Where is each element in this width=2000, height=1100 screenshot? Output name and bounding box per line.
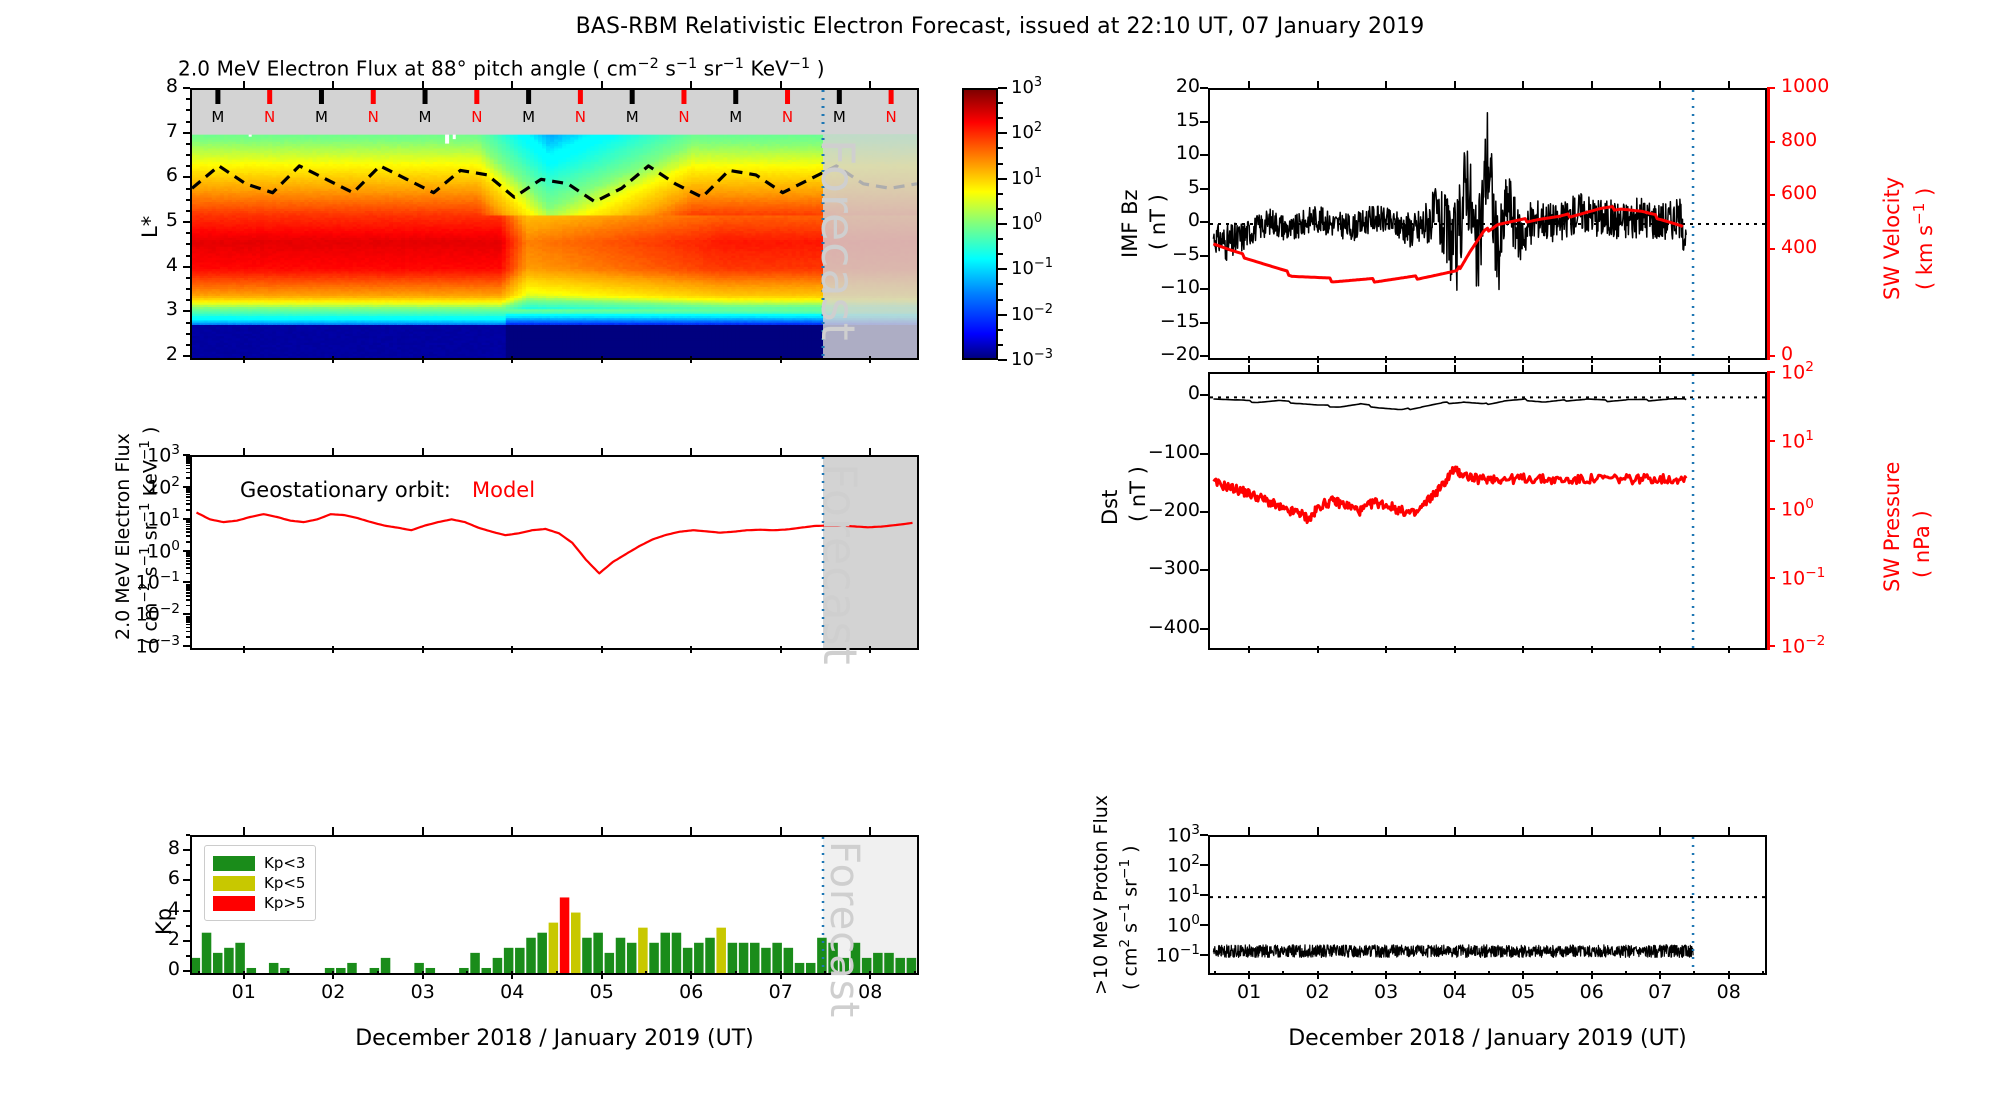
imf-ytick-left-mark <box>1200 221 1208 223</box>
geo-flux-xtick-top <box>243 448 245 455</box>
imf-ytick-left-mark <box>1200 87 1208 89</box>
geo-flux-xtick-top <box>511 448 513 455</box>
forecast-figure: BAS-RBM Relativistic Electron Forecast, … <box>0 0 2000 1100</box>
kp-legend-row: Kp<5 <box>213 874 305 892</box>
geo-flux-ytick-minor <box>186 573 190 575</box>
kp-xtick-mark-top <box>869 827 871 835</box>
dst-ytick: −100 <box>1108 441 1200 463</box>
flux-map-ytick-minor <box>186 109 190 111</box>
kp-xtick-label: 05 <box>572 981 632 1003</box>
kp-xtick-minor <box>466 971 468 975</box>
proton-xtick-minor <box>1419 971 1421 975</box>
geo-flux-ytick-minor <box>186 500 190 502</box>
flux-map-xtick-top <box>422 81 424 88</box>
kp-xtick-minor <box>377 971 379 975</box>
kp-ytick-mark <box>183 879 190 881</box>
imf-ytick-left: −15 <box>1118 310 1200 332</box>
flux-map-top-marker: N <box>678 108 689 126</box>
forecast-watermark-1: Forecast <box>811 139 865 342</box>
geo-flux-ytick-minor <box>186 492 190 494</box>
dst-ytick-mark <box>1200 394 1208 396</box>
geo-flux-ytick: 100 <box>92 538 180 562</box>
geo-flux-ytick-minor <box>186 560 190 562</box>
flux-map-ytick-mark <box>183 355 190 357</box>
flux-map-ytick: 3 <box>120 298 178 320</box>
flux-map-ytick-minor <box>186 344 190 346</box>
colorbar-tick-minor <box>998 208 1003 210</box>
geo-flux-ytick: 10−2 <box>92 601 180 625</box>
geo-flux-xtick <box>780 646 782 653</box>
geo-flux-ytick: 101 <box>92 506 180 530</box>
geo-flux-ytick-minor <box>186 617 190 619</box>
flux-map-ytick: 5 <box>120 209 178 231</box>
geo-flux-ytick-minor <box>186 456 190 458</box>
kp-ytick-mark <box>183 970 190 972</box>
kp-legend-row: Kp>5 <box>213 894 305 912</box>
geo-flux-ytick-minor <box>186 526 190 528</box>
colorbar-tick-minor <box>998 223 1003 225</box>
imf-xtick <box>1522 356 1524 363</box>
proton-xtick-minor <box>1385 971 1387 975</box>
proton-xtick-label: 04 <box>1425 981 1485 1003</box>
geo-flux-ytick-minor <box>186 636 190 638</box>
imf-ytick-left: 5 <box>1118 176 1200 198</box>
colorbar-tick-minor <box>998 253 1003 255</box>
kp-xtick-minor <box>332 971 334 975</box>
geo-flux-xtick-top <box>601 448 603 455</box>
proton-xtick-minor <box>1659 971 1661 975</box>
geo-flux-ytick-minor <box>186 619 190 621</box>
flux-map-ytick: 6 <box>120 164 178 186</box>
kp-xtick-minor <box>914 971 916 975</box>
geo-flux-ytick-minor <box>186 592 190 594</box>
sw-velocity-ylabel-line2: ( km s−1 ) <box>1910 188 1937 290</box>
geo-flux-xtick-top <box>422 448 424 455</box>
sw-pressure-ytick: 102 <box>1781 359 1814 383</box>
flux-map-ytick-minor <box>186 199 190 201</box>
geo-flux-ytick-minor <box>186 472 190 474</box>
imf-ytick-left-mark <box>1200 322 1208 324</box>
imf-xtick-top <box>1454 81 1456 88</box>
proton-xtick-minor <box>1762 971 1764 975</box>
imf-ytick-left: −10 <box>1118 276 1200 298</box>
kp-xtick-minor <box>690 971 692 975</box>
kp-xtick-minor <box>243 971 245 975</box>
geo-flux-ytick-minor <box>186 494 190 496</box>
imf-xtick <box>1591 356 1593 363</box>
geo-flux-xtick-top <box>869 448 871 455</box>
geo-flux-xtick-top <box>690 448 692 455</box>
colorbar-tick-label: 100 <box>1011 211 1042 234</box>
dst-xtick-top <box>1522 365 1524 372</box>
geo-flux-ytick-minor <box>186 605 190 607</box>
kp-legend-label: Kp<5 <box>264 874 305 892</box>
geo-flux-xtick <box>332 646 334 653</box>
sw-velocity-axis-spine <box>1767 88 1770 360</box>
dst-xtick <box>1522 646 1524 653</box>
geo-flux-ytick-minor <box>186 503 190 505</box>
geo-flux-ytick-minor <box>186 460 190 462</box>
geo-flux-ytick-minor <box>186 488 190 490</box>
flux-map-ytick-minor <box>186 121 190 123</box>
kp-xtick-minor <box>824 971 826 975</box>
kp-ytick: 6 <box>130 867 180 889</box>
geo-flux-xtick-top <box>332 448 334 455</box>
flux-map-top-marker: M <box>315 108 328 126</box>
geo-flux-ytick-minor <box>186 631 190 633</box>
flux-map-ytick-minor <box>186 255 190 257</box>
imf-xtick-top <box>1317 81 1319 88</box>
proton-xtick-label: 01 <box>1219 981 1279 1003</box>
flux-map-xtick <box>243 356 245 363</box>
proton-xtick-mark-top <box>1454 827 1456 835</box>
forecast-watermark-2: Forecast <box>813 463 867 666</box>
flux-map-ytick-minor <box>186 154 190 156</box>
flux-map-ytick: 7 <box>120 120 178 142</box>
sw-velocity-ytick: 400 <box>1781 236 1817 258</box>
proton-xtick-label: 02 <box>1288 981 1348 1003</box>
flux-map-xtick <box>332 356 334 363</box>
geo-flux-ytick-mark <box>183 645 190 647</box>
proton-xtick-mark-top <box>1248 827 1250 835</box>
dst-xtick-top <box>1659 365 1661 372</box>
sw-pressure-ylabel-line1: SW Pressure <box>1880 462 1904 592</box>
sw-pressure-ylabel-line2: ( nPa ) <box>1910 510 1934 578</box>
geo-flux-ytick-minor <box>186 462 190 464</box>
geo-flux-xtick <box>243 646 245 653</box>
proton-xtick-minor <box>1728 971 1730 975</box>
geo-flux-ytick: 10−3 <box>92 633 180 657</box>
flux-map-xtick <box>780 356 782 363</box>
colorbar-tick-label: 10−3 <box>1011 347 1053 370</box>
proton-xtick-mark-top <box>1591 827 1593 835</box>
dst-ytick: −400 <box>1108 616 1200 638</box>
kp-xtick-minor <box>287 971 289 975</box>
flux-map-xtick <box>869 356 871 363</box>
dst-ytick-mark <box>1200 569 1208 571</box>
dst-xtick <box>1591 646 1593 653</box>
geo-flux-ytick-minor <box>186 531 190 533</box>
kp-xtick-label: 08 <box>840 981 900 1003</box>
geo-flux-ytick-minor <box>186 496 190 498</box>
proton-ytick: 100 <box>1110 912 1200 936</box>
proton-xtick-minor <box>1282 971 1284 975</box>
proton-xtick-mark-top <box>1385 827 1387 835</box>
colorbar-tick-minor <box>998 163 1003 165</box>
proton-xtick-minor <box>1591 971 1593 975</box>
flux-map-ytick-mark <box>183 132 190 134</box>
flux-colorbar <box>962 88 998 360</box>
proton-xtick-mark-top <box>1317 827 1319 835</box>
dst-xtick-top <box>1728 365 1730 372</box>
geo-flux-ytick-minor <box>186 477 190 479</box>
colorbar-tick-minor <box>998 147 1003 149</box>
imf-ytick-left: −5 <box>1118 243 1200 265</box>
sw-velocity-ytick: 600 <box>1781 182 1817 204</box>
sw-velocity-ylabel-line1: SW Velocity <box>1880 177 1904 300</box>
imf-ytick-left-mark <box>1200 121 1208 123</box>
colorbar-tick-minor <box>998 102 1003 104</box>
dst-ytick-mark <box>1200 453 1208 455</box>
flux-map-top-marker: M <box>522 108 535 126</box>
proton-xtick-label: 06 <box>1562 981 1622 1003</box>
kp-xtick-minor <box>869 971 871 975</box>
colorbar-tick-minor <box>998 283 1003 285</box>
geo-flux-annotation-series: Model <box>472 478 535 502</box>
colorbar-tick-label: 10−1 <box>1011 256 1053 279</box>
imf-xtick <box>1659 356 1661 363</box>
kp-ytick-minor <box>186 925 190 927</box>
flux-map-ytick-minor <box>186 243 190 245</box>
imf-ytick-left: −20 <box>1118 343 1200 365</box>
imf-xtick <box>1248 356 1250 363</box>
sw-pressure-ytick: 10−1 <box>1781 565 1825 589</box>
proton-ytick: 10−1 <box>1110 942 1200 966</box>
geo-flux-ytick-minor <box>186 627 190 629</box>
proton-xtick-mark-top <box>1659 827 1661 835</box>
kp-xtick-minor <box>601 971 603 975</box>
geo-flux-ytick-minor <box>186 465 190 467</box>
proton-xtick-minor <box>1454 971 1456 975</box>
colorbar-tick-minor <box>998 344 1003 346</box>
flux-map-top-marker: N <box>782 108 793 126</box>
flux-map-ytick-minor <box>186 210 190 212</box>
geo-flux-ytick-minor <box>186 563 190 565</box>
colorbar-tick-minor <box>998 359 1003 361</box>
flux-map-xtick-top <box>780 81 782 88</box>
kp-xtick-minor <box>645 971 647 975</box>
dst-ytick-mark <box>1200 511 1208 513</box>
kp-xtick-mark-top <box>601 827 603 835</box>
flux-map-top-marker: M <box>729 108 742 126</box>
proton-ytick: 102 <box>1110 852 1200 876</box>
imf-ytick-left: 0 <box>1118 209 1200 231</box>
kp-xtick-mark-top <box>243 827 245 835</box>
geo-flux-annotation-prefix: Geostationary orbit: <box>240 478 451 502</box>
flux-map-ytick-minor <box>186 288 190 290</box>
imf-xtick-top <box>1728 81 1730 88</box>
flux-map-ytick-minor <box>186 277 190 279</box>
flux-map-ytick-minor <box>186 188 190 190</box>
geo-flux-ytick-minor <box>186 624 190 626</box>
colorbar-tick-minor <box>998 314 1003 316</box>
right-xlabel: December 2018 / January 2019 (UT) <box>1208 1026 1767 1051</box>
geo-flux-xtick <box>511 646 513 653</box>
geo-flux-xtick <box>601 646 603 653</box>
kp-ytick-mark <box>183 940 190 942</box>
dst-ytick: −300 <box>1108 557 1200 579</box>
proton-xtick-minor <box>1214 971 1216 975</box>
imf-xtick <box>1317 356 1319 363</box>
flux-map-xtick <box>690 356 692 363</box>
flux-map-ytick-minor <box>186 299 190 301</box>
dst-xtick-top <box>1591 365 1593 372</box>
proton-ytick-mark <box>1200 924 1208 926</box>
geo-flux-ytick: 102 <box>92 474 180 498</box>
geo-flux-ytick-minor <box>186 587 190 589</box>
geo-flux-xtick <box>422 646 424 653</box>
proton-xtick-minor <box>1248 971 1250 975</box>
flux-map-ytick: 4 <box>120 254 178 276</box>
dst-xtick <box>1248 646 1250 653</box>
panel-proton-flux <box>1208 835 1767 975</box>
kp-xtick-minor <box>511 971 513 975</box>
kp-xtick-mark-top <box>422 827 424 835</box>
kp-xtick-minor <box>735 971 737 975</box>
flux-map-ytick-mark <box>183 176 190 178</box>
geo-flux-ytick-minor <box>186 554 190 556</box>
geo-flux-ytick-minor <box>186 585 190 587</box>
kp-ytick: 2 <box>130 928 180 950</box>
flux-map-top-marker: N <box>264 108 275 126</box>
flux-map-top-marker: M <box>833 108 846 126</box>
colorbar-tick-minor <box>998 238 1003 240</box>
geo-flux-ytick-minor <box>186 535 190 537</box>
imf-xtick-top <box>1248 81 1250 88</box>
dst-xtick <box>1454 646 1456 653</box>
geo-flux-ytick-minor <box>186 584 190 586</box>
flux-map-top-marker: M <box>626 108 639 126</box>
flux-map-title: 2.0 MeV Electron Flux at 88° pitch angle… <box>178 56 825 81</box>
flux-map-top-marker: M <box>211 108 224 126</box>
flux-map-ytick-minor <box>186 322 190 324</box>
flux-map-xtick <box>601 356 603 363</box>
imf-xtick <box>1385 356 1387 363</box>
imf-xtick-top <box>1385 81 1387 88</box>
geo-flux-ytick-minor <box>186 468 190 470</box>
geo-flux-ytick-minor <box>186 490 190 492</box>
proton-ytick-mark <box>1200 864 1208 866</box>
imf-ytick-left-mark <box>1200 355 1208 357</box>
flux-map-top-marker: N <box>471 108 482 126</box>
flux-map-xtick <box>422 356 424 363</box>
sw-velocity-ytick: 800 <box>1781 129 1817 151</box>
geo-flux-xtick-top <box>780 448 782 455</box>
dst-xtick <box>1659 646 1661 653</box>
panel-imf-bz <box>1208 88 1767 360</box>
geo-flux-ytick-minor <box>186 528 190 530</box>
geo-flux-ytick-minor <box>186 558 190 560</box>
geo-flux-ytick-minor <box>186 520 190 522</box>
colorbar-tick-minor <box>998 87 1003 89</box>
flux-map-xtick-top <box>869 81 871 88</box>
colorbar-tick-label: 10−2 <box>1011 302 1053 325</box>
flux-map-ytick-minor <box>186 232 190 234</box>
proton-xtick-minor <box>1556 971 1558 975</box>
proton-ytick: 103 <box>1110 822 1200 846</box>
flux-map-xtick <box>511 356 513 363</box>
geo-flux-xtick <box>869 646 871 653</box>
flux-map-xtick-top <box>690 81 692 88</box>
kp-xtick-mark-top <box>690 827 692 835</box>
proton-xtick-minor <box>1625 971 1627 975</box>
kp-xtick-mark-top <box>780 827 782 835</box>
imf-xtick-top <box>1659 81 1661 88</box>
geo-flux-ytick-minor <box>186 599 190 601</box>
proton-xtick-minor <box>1488 971 1490 975</box>
kp-ytick-mark <box>183 849 190 851</box>
flux-map-ytick-minor <box>186 98 190 100</box>
colorbar-tick-minor <box>998 132 1003 134</box>
geo-flux-ytick-minor <box>186 541 190 543</box>
imf-xtick <box>1728 356 1730 363</box>
kp-ytick: 4 <box>130 898 180 920</box>
dst-ytick: 0 <box>1108 382 1200 404</box>
flux-map-ytick-minor <box>186 165 190 167</box>
dst-ytick: −200 <box>1108 499 1200 521</box>
imf-xtick-top <box>1591 81 1593 88</box>
flux-map-top-marker: N <box>575 108 586 126</box>
flux-map-ytick-mark <box>183 310 190 312</box>
flux-map-ytick-mark <box>183 221 190 223</box>
sw-velocity-ytick: 1000 <box>1781 75 1829 97</box>
kp-legend-swatch <box>213 856 255 871</box>
sw-pressure-ytick: 10−2 <box>1781 633 1825 657</box>
imf-xtick <box>1454 356 1456 363</box>
kp-legend-row: Kp<3 <box>213 854 305 872</box>
dst-xtick <box>1728 646 1730 653</box>
geo-flux-ytick: 103 <box>92 442 180 466</box>
kp-xtick-label: 03 <box>393 981 453 1003</box>
flux-map-xtick-top <box>511 81 513 88</box>
geo-flux-ytick-minor <box>186 458 190 460</box>
geo-flux-ytick-minor <box>186 555 190 557</box>
kp-ytick-mark <box>183 910 190 912</box>
dst-xtick-top <box>1248 365 1250 372</box>
flux-map-xtick-top <box>601 81 603 88</box>
sw-pressure-ytick: 100 <box>1781 496 1814 520</box>
left-xlabel: December 2018 / January 2019 (UT) <box>190 1026 919 1051</box>
colorbar-tick-label: 102 <box>1011 120 1042 143</box>
geo-flux-ytick-minor <box>186 595 190 597</box>
colorbar-tick-minor <box>998 178 1003 180</box>
flux-map-ytick-mark <box>183 87 190 89</box>
dst-xtick-top <box>1454 365 1456 372</box>
proton-xtick-label: 03 <box>1356 981 1416 1003</box>
flux-map-ytick: 2 <box>120 343 178 365</box>
imf-ytick-left: 15 <box>1118 109 1200 131</box>
panel-flux-heatmap: MNMNMNMNMNMNMN <box>190 88 919 360</box>
imf-ytick-left: 20 <box>1118 75 1200 97</box>
proton-xtick-label: 07 <box>1630 981 1690 1003</box>
dst-xtick-top <box>1385 365 1387 372</box>
proton-xtick-label: 08 <box>1699 981 1759 1003</box>
kp-legend-label: Kp<3 <box>264 854 305 872</box>
flux-map-ytick: 8 <box>120 75 178 97</box>
dst-xtick <box>1385 646 1387 653</box>
imf-ytick-left-mark <box>1200 188 1208 190</box>
flux-map-xtick-top <box>332 81 334 88</box>
dst-xtick <box>1317 646 1319 653</box>
kp-xtick-label: 06 <box>661 981 721 1003</box>
colorbar-tick-minor <box>998 329 1003 331</box>
flux-map-xtick-top <box>243 81 245 88</box>
flux-map-ytick-mark <box>183 266 190 268</box>
kp-legend-swatch <box>213 876 255 891</box>
flux-map-ytick-minor <box>186 143 190 145</box>
geo-flux-ytick-minor <box>186 524 190 526</box>
kp-xtick-minor <box>198 971 200 975</box>
kp-ytick-minor <box>186 834 190 836</box>
geo-flux-ytick-minor <box>186 522 190 524</box>
proton-xtick-minor <box>1351 971 1353 975</box>
proton-ylabel-line1: >10 MeV Proton Flux <box>1090 795 1112 995</box>
figure-title: BAS-RBM Relativistic Electron Forecast, … <box>0 14 2000 39</box>
kp-xtick-label: 04 <box>482 981 542 1003</box>
colorbar-tick-minor <box>998 193 1003 195</box>
kp-ytick: 8 <box>130 837 180 859</box>
kp-xtick-minor <box>780 971 782 975</box>
